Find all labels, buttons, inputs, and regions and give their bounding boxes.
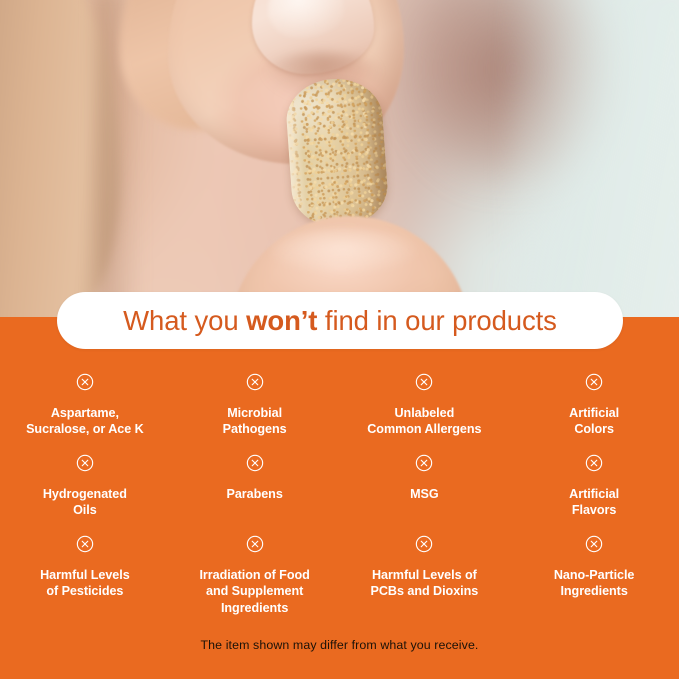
exclusion-item: Hydrogenated Oils [0, 452, 170, 533]
exclusion-label: Unlabeled Common Allergens [367, 405, 481, 438]
headline-pill: What you won’t find in our products [57, 292, 623, 349]
exclusion-item: Microbial Pathogens [170, 371, 340, 452]
exclusion-label: Hydrogenated Oils [43, 486, 127, 519]
exclusion-item: Harmful Levels of PCBs and Dioxins [340, 533, 510, 623]
circle-x-icon [415, 373, 433, 391]
exclusion-label: Artificial Colors [569, 405, 619, 438]
exclusion-label: Microbial Pathogens [223, 405, 287, 438]
exclusion-label: Harmful Levels of Pesticides [40, 567, 130, 600]
product-photo [0, 0, 679, 318]
index-finger-highlight [268, 228, 418, 274]
exclusion-item: Parabens [170, 452, 340, 533]
exclusions-grid: Aspartame, Sucralose, or Ace K Microbial… [0, 371, 679, 623]
exclusion-item: MSG [340, 452, 510, 533]
circle-x-icon [585, 373, 603, 391]
exclusion-label: Artificial Flavors [569, 486, 619, 519]
exclusion-item: Irradiation of Food and Supplement Ingre… [170, 533, 340, 623]
page-title-suffix: find in our products [317, 305, 556, 336]
circle-x-icon [246, 373, 264, 391]
circle-x-icon [585, 454, 603, 472]
exclusion-item: Nano-Particle Ingredients [509, 533, 679, 623]
product-infographic: What you won’t find in our products Aspa… [0, 0, 679, 679]
circle-x-icon [76, 535, 94, 553]
exclusions-row: Harmful Levels of Pesticides Irradiation… [0, 533, 679, 623]
exclusion-label: Parabens [226, 486, 282, 502]
exclusion-item: Artificial Colors [509, 371, 679, 452]
exclusions-row: Hydrogenated Oils Parabens MSG Artificia… [0, 452, 679, 533]
exclusion-label: Aspartame, Sucralose, or Ace K [26, 405, 144, 438]
exclusion-label: Nano-Particle Ingredients [554, 567, 635, 600]
exclusions-row: Aspartame, Sucralose, or Ace K Microbial… [0, 371, 679, 452]
circle-x-icon [415, 535, 433, 553]
circle-x-icon [246, 535, 264, 553]
page-title-prefix: What you [123, 305, 246, 336]
circle-x-icon [415, 454, 433, 472]
circle-x-icon [76, 373, 94, 391]
circle-x-icon [585, 535, 603, 553]
page-title: What you won’t find in our products [123, 305, 557, 337]
disclaimer-text: The item shown may differ from what you … [0, 638, 679, 652]
exclusion-label: Irradiation of Food and Supplement Ingre… [199, 567, 309, 616]
exclusion-label: MSG [410, 486, 439, 502]
exclusion-label: Harmful Levels of PCBs and Dioxins [371, 567, 479, 600]
exclusion-item: Unlabeled Common Allergens [340, 371, 510, 452]
circle-x-icon [76, 454, 94, 472]
tablet-icon [284, 76, 390, 230]
exclusion-item: Artificial Flavors [509, 452, 679, 533]
exclusion-item: Harmful Levels of Pesticides [0, 533, 170, 623]
circle-x-icon [246, 454, 264, 472]
photo-teal-haze [509, 0, 679, 318]
page-title-emphasis: won’t [246, 305, 317, 336]
exclusion-item: Aspartame, Sucralose, or Ace K [0, 371, 170, 452]
